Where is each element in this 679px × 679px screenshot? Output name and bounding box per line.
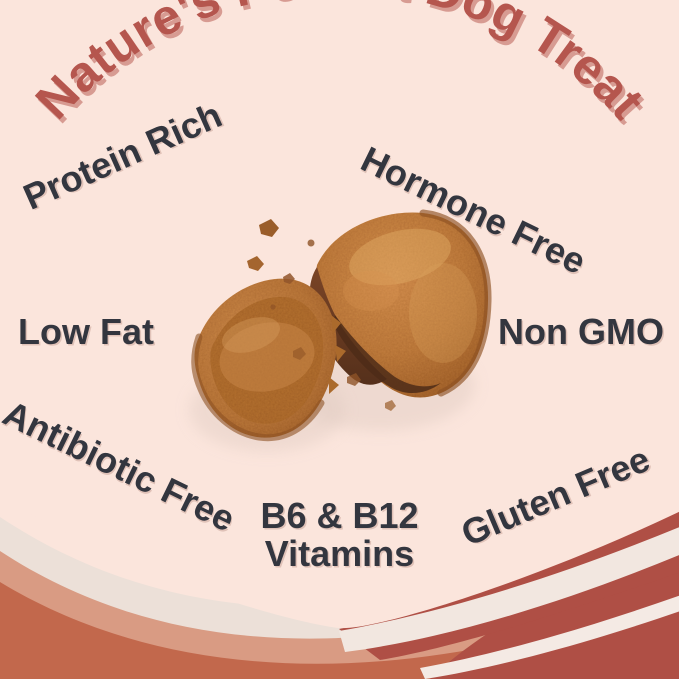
broken-dog-treat-photo [175, 195, 495, 475]
feature-label-vitamins-line-2: Vitamins [0, 535, 679, 573]
feature-label-vitamins-line-1: B6 & B12 [0, 497, 679, 535]
feature-label-low-fat: Low Fat [18, 313, 154, 351]
feature-label-non-gmo: Non GMO [498, 313, 664, 351]
product-infographic-poster: Nature's Perfect Dog Treat Nature's Perf… [0, 0, 679, 679]
feature-label-vitamins: B6 & B12 Vitamins [0, 497, 679, 573]
